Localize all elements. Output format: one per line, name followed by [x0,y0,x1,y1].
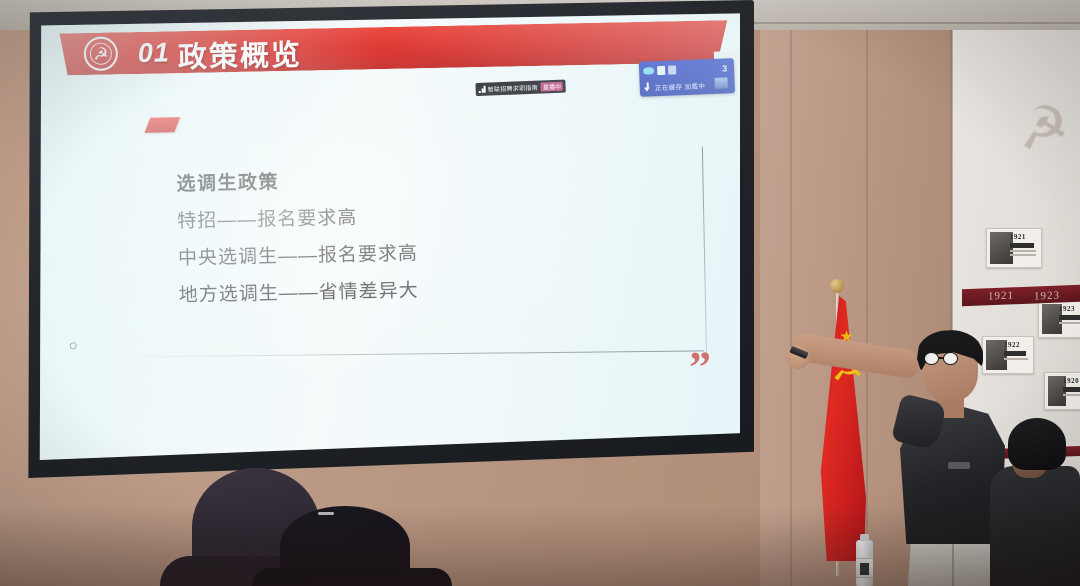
wall-seam [866,20,868,586]
timeline-caption: 1923 [1059,305,1080,324]
stop-square-icon[interactable] [657,65,665,74]
slide-body-line: 特招——报名要求高 [177,198,607,234]
signal-bars-icon [479,86,486,93]
seated-attendee-hair [1008,418,1066,470]
slide-body-line: 中央选调生——报名要求高 [178,235,608,271]
download-icon[interactable] [644,82,651,92]
slide-corner-dot-icon [70,342,77,349]
player-thumbnail[interactable] [714,77,727,89]
timeline-year-label: 1921 [988,290,1014,303]
wall-seam [790,20,792,586]
timeline-caption: 1921 [1010,233,1038,256]
presenter-shirt-logo [948,462,970,469]
timeline-card: 1920 [1044,372,1080,410]
player-counter: 3 [722,63,727,73]
timeline-card: 1923 [1038,300,1080,338]
timeline-card: 1922 [982,336,1034,374]
list-square-icon[interactable] [668,65,676,74]
watermark-badge: 智联招聘求职指南 直播中 [475,80,566,97]
player-top-row: 3 [643,61,730,76]
slide-vertical-rule [702,147,707,362]
player-status-label: 正在缓存 加载中 [655,80,706,92]
slide-body-heading: 选调生政策 [176,161,606,197]
slide-body-line: 地方选调生——省情差异大 [178,272,608,308]
slide-title: 政策概览 [177,32,302,76]
video-player-overlay[interactable]: 3 正在缓存 加载中 [639,58,735,97]
watermark-text: 智联招聘求职指南 [487,83,538,94]
quote-mark-icon: ” [689,351,712,385]
toggle-pill-icon[interactable] [643,67,654,74]
tv-screen[interactable]: ☭ 01 政策概览 选调生政策 特招——报名要求高 中央选调生——报名要求高 地… [37,12,740,460]
red-parallelogram-accent [144,117,180,133]
timeline-year-label: 1923 [1034,290,1060,303]
timeline-caption: 1922 [1004,341,1030,360]
room-scene: ☭ 1921 1923 1922 1920 1921 1923 ☭ [0,0,1080,586]
player-bottom-row: 正在缓存 加载中 [644,77,731,93]
live-tag: 直播中 [541,82,563,92]
floor-shadow [0,506,1080,586]
timeline-caption: 1920 [1063,377,1080,396]
slide-number: 01 [138,37,171,69]
slide-horizontal-rule [139,350,704,357]
flag-pole-finial [830,279,844,293]
hammer-sickle-icon: ☭ [1014,98,1069,173]
wall-mounted-tv: ☭ 01 政策概览 选调生政策 特招——报名要求高 中央选调生——报名要求高 地… [24,0,754,478]
timeline-card: 1921 [986,228,1042,268]
glasses-icon [924,352,960,365]
presentation-slide: ☭ 01 政策概览 选调生政策 特招——报名要求高 中央选调生——报名要求高 地… [37,12,740,460]
slide-body: 选调生政策 特招——报名要求高 中央选调生——报名要求高 地方选调生——省情差异… [176,161,609,308]
